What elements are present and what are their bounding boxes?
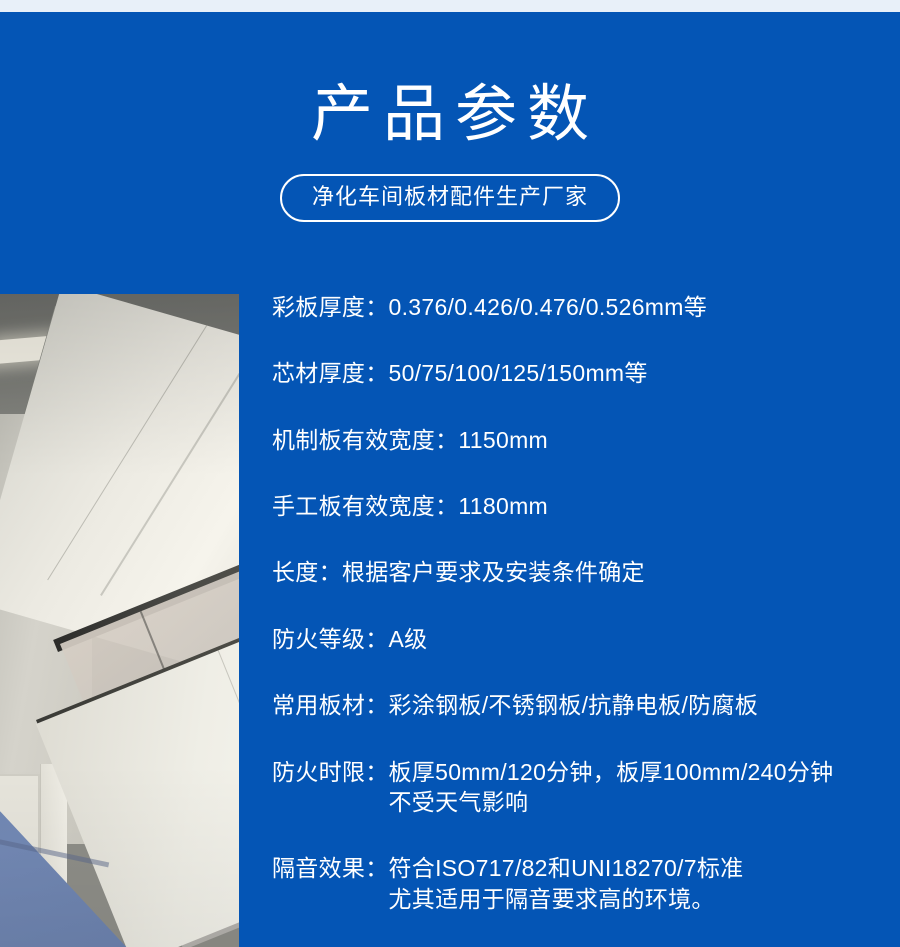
spec-value: 彩涂钢板/不锈钢板/抗静电板/防腐板 bbox=[389, 690, 885, 720]
spec-value: A级 bbox=[389, 624, 885, 654]
spec-value: 1180mm bbox=[458, 491, 884, 521]
spec-label: 长度： bbox=[272, 557, 342, 587]
spec-list: 彩板厚度： 0.376/0.426/0.476/0.526mm等 芯材厚度： 5… bbox=[272, 292, 884, 914]
photo-lower-panel-seam bbox=[218, 650, 239, 882]
spec-row: 防火等级： A级 bbox=[272, 624, 884, 654]
cleanroom-corridor-photo bbox=[0, 294, 239, 947]
spec-value: 50/75/100/125/150mm等 bbox=[389, 358, 885, 388]
product-spec-banner: 产品参数 净化车间板材配件生产厂家 bbox=[0, 0, 900, 947]
subtitle-pill: 净化车间板材配件生产厂家 bbox=[280, 174, 620, 222]
subtitle-pill-wrapper: 净化车间板材配件生产厂家 bbox=[0, 174, 900, 222]
spec-label: 防火时限： bbox=[272, 757, 389, 787]
spec-value: 1150mm bbox=[458, 425, 884, 455]
spec-label: 防火等级： bbox=[272, 624, 389, 654]
spec-row: 手工板有效宽度： 1180mm bbox=[272, 491, 884, 521]
spec-label: 常用板材： bbox=[272, 690, 389, 720]
spec-row: 芯材厚度： 50/75/100/125/150mm等 bbox=[272, 358, 884, 388]
page-title: 产品参数 bbox=[0, 12, 900, 146]
spec-label: 彩板厚度： bbox=[272, 292, 389, 322]
spec-label: 芯材厚度： bbox=[272, 358, 389, 388]
spec-value: 0.376/0.426/0.476/0.526mm等 bbox=[389, 292, 885, 322]
photo-panel-seam-1 bbox=[47, 325, 207, 580]
spec-label: 手工板有效宽度： bbox=[272, 491, 458, 521]
spec-value: 符合ISO717/82和UNI18270/7标准 尤其适用于隔音要求高的环境。 bbox=[389, 853, 885, 914]
spec-row: 机制板有效宽度： 1150mm bbox=[272, 425, 884, 455]
spec-row: 长度： 根据客户要求及安装条件确定 bbox=[272, 557, 884, 587]
spec-value: 根据客户要求及安装条件确定 bbox=[342, 557, 884, 587]
header-block: 产品参数 净化车间板材配件生产厂家 bbox=[0, 12, 900, 222]
top-accent-band bbox=[0, 0, 900, 12]
spec-row: 隔音效果： 符合ISO717/82和UNI18270/7标准 尤其适用于隔音要求… bbox=[272, 853, 884, 914]
spec-label: 机制板有效宽度： bbox=[272, 425, 458, 455]
spec-label: 隔音效果： bbox=[272, 853, 389, 883]
spec-value: 板厚50mm/120分钟，板厚100mm/240分钟 不受天气影响 bbox=[389, 757, 885, 818]
spec-row: 防火时限： 板厚50mm/120分钟，板厚100mm/240分钟 不受天气影响 bbox=[272, 757, 884, 818]
spec-row: 彩板厚度： 0.376/0.426/0.476/0.526mm等 bbox=[272, 292, 884, 322]
photo-panel-seam-2 bbox=[100, 341, 239, 596]
spec-row: 常用板材： 彩涂钢板/不锈钢板/抗静电板/防腐板 bbox=[272, 690, 884, 720]
